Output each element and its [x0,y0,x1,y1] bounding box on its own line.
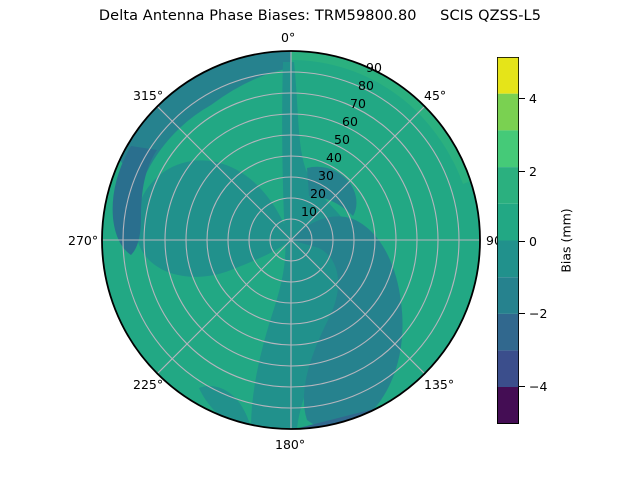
polar-plot [101,50,481,430]
colorbar-band-4 [497,241,519,278]
colorbar-tick-label-0: 0 [529,234,537,249]
colorbar-tick-label-m2: −2 [529,306,547,321]
colorbar-band-6 [497,167,519,204]
angular-tick-45: 45° [424,88,446,103]
radial-tick-80: 80 [358,78,374,93]
angular-tick-135: 135° [424,377,454,392]
polar-plot-svg [101,50,481,430]
colorbar[interactable] [497,57,519,424]
radial-tick-90: 90 [366,60,382,75]
colorbar-band-9 [497,57,519,94]
colorbar-band-0 [497,387,519,424]
colorbar-axis-label-text: Bias (mm) [559,208,574,272]
colorbar-band-1 [497,351,519,388]
colorbar-band-8 [497,94,519,131]
radial-tick-10: 10 [301,204,317,219]
colorbar-bands [497,57,519,424]
radial-tick-40: 40 [326,150,342,165]
angular-tick-0: 0° [281,30,295,45]
page-title: Delta Antenna Phase Biases: TRM59800.80 … [0,8,640,24]
angular-tick-270: 270° [68,233,98,248]
colorbar-tick-mark-0 [519,241,525,242]
colorbar-band-3 [497,277,519,314]
colorbar-band-5 [497,204,519,241]
colorbar-tick-mark-m4 [519,386,525,387]
radial-tick-50: 50 [334,132,350,147]
colorbar-svg [497,57,519,424]
colorbar-tick-mark-2 [519,171,525,172]
colorbar-tick-mark-4 [519,98,525,99]
angular-tick-225: 225° [133,377,163,392]
radial-tick-30: 30 [318,168,334,183]
radial-tick-60: 60 [342,114,358,129]
colorbar-tick-mark-m2 [519,313,525,314]
radial-tick-20: 20 [310,186,326,201]
angular-gridlines [102,51,480,429]
figure-canvas: Delta Antenna Phase Biases: TRM59800.80 … [0,0,640,480]
colorbar-tick-label-m4: −4 [529,379,547,394]
colorbar-band-2 [497,314,519,351]
colorbar-tick-label-4: 4 [529,91,537,106]
radial-tick-70: 70 [350,96,366,111]
colorbar-band-7 [497,130,519,167]
angular-tick-180: 180° [275,437,305,452]
colorbar-tick-label-2: 2 [529,164,537,179]
colorbar-axis-label: Bias (mm) [556,57,576,424]
angular-tick-315: 315° [133,88,163,103]
